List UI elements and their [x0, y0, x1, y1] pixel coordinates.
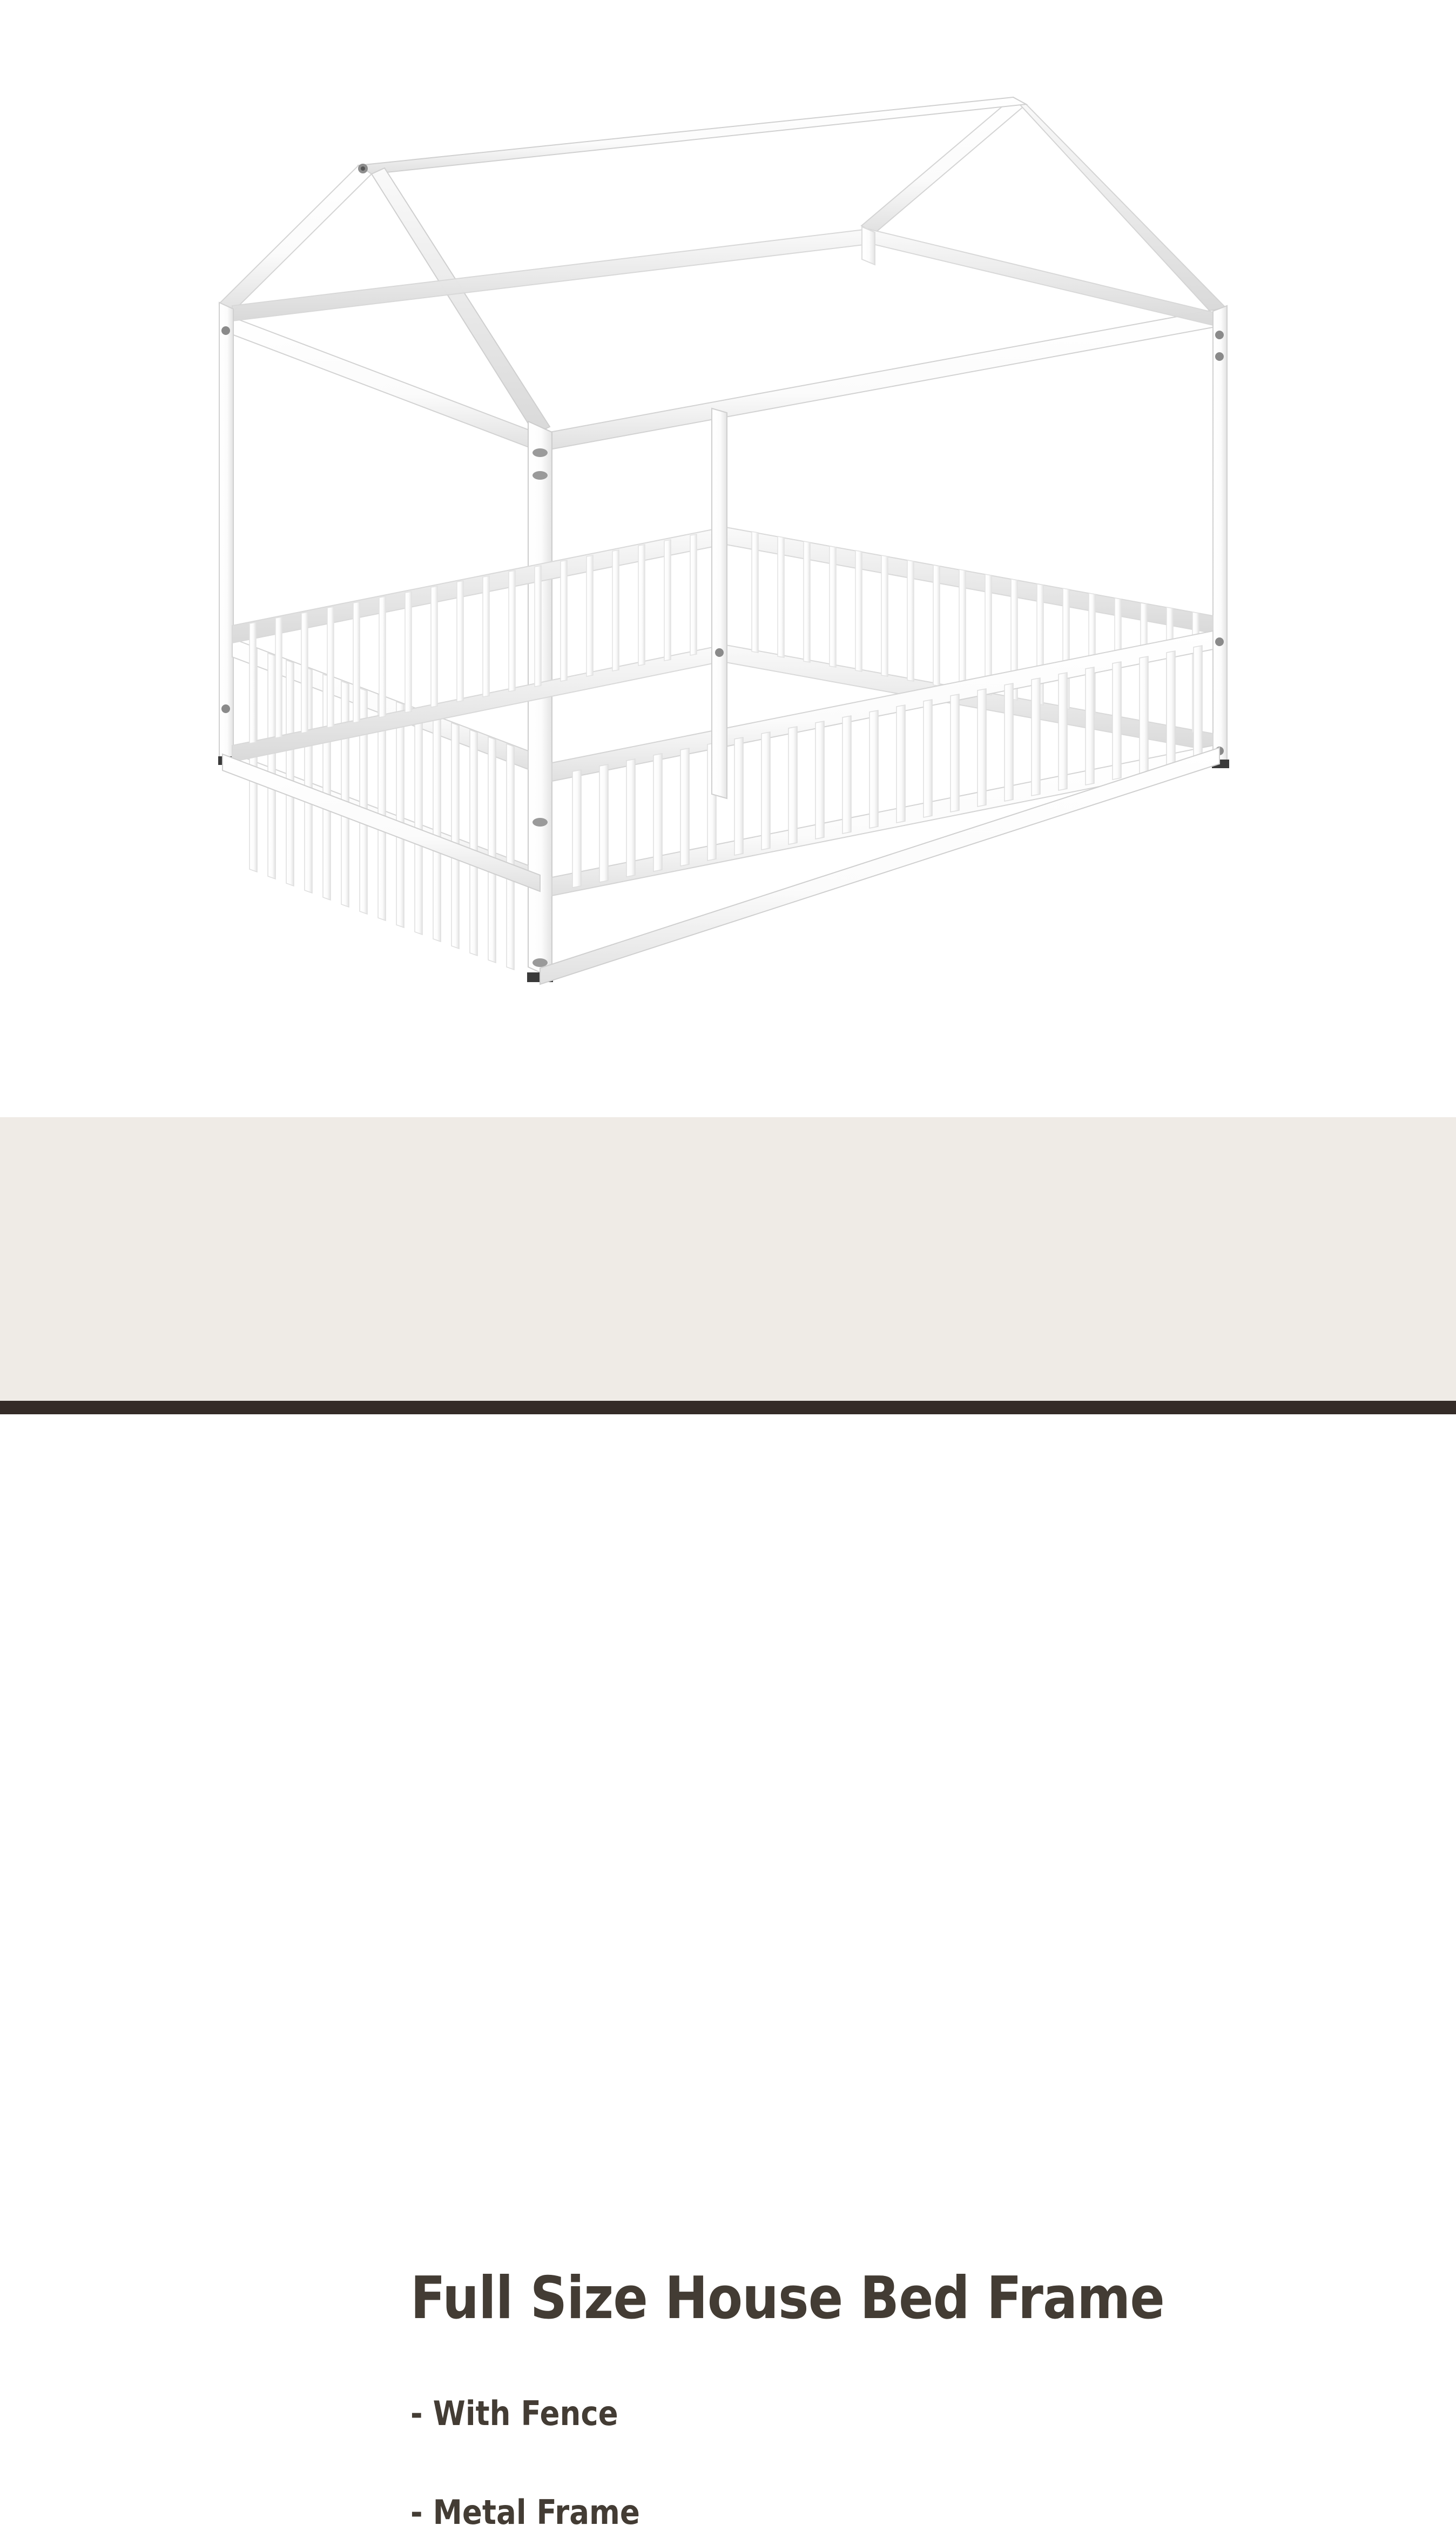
screw-front-post-a: [532, 448, 548, 457]
screw-left-post-bottom: [221, 704, 230, 713]
post-rear-gable-center: [862, 227, 875, 265]
feature-item-metal-frame: - Metal Frame: [410, 2493, 1218, 2532]
post-right-rear: [1213, 306, 1227, 766]
top-rail-right: [550, 309, 1218, 449]
roof-ridge-beam: [359, 97, 1026, 174]
fence-rear-right-top-rail: [726, 527, 1213, 633]
house-bed-frame-illustration: [0, 0, 1456, 1117]
product-image-stage: [0, 0, 1456, 1117]
fence-panel-rear-left: [232, 529, 713, 762]
bottom-white-margin: [0, 1414, 1456, 1440]
banner-text-block: Full Size House Bed Frame - With Fence -…: [410, 2268, 1329, 2532]
screw-front-post-b: [532, 471, 548, 480]
screw-center-divider: [715, 648, 724, 657]
screw-right-post-top: [1215, 331, 1224, 339]
page-title: Full Size House Bed Frame: [410, 2268, 1218, 2329]
top-rail-rear-left: [232, 229, 868, 321]
feature-item-with-fence: - With Fence: [410, 2394, 1218, 2433]
banner-bottom-rule: [0, 1401, 1456, 1414]
screw-front-post-c: [532, 818, 548, 827]
info-banner: Full Size House Bed Frame - With Fence -…: [0, 1117, 1456, 1414]
post-center-divider: [712, 408, 727, 798]
screw-right-post-bottom: [1215, 637, 1224, 646]
post-left-rear: [219, 303, 233, 763]
screw-left-post-top: [221, 326, 230, 335]
